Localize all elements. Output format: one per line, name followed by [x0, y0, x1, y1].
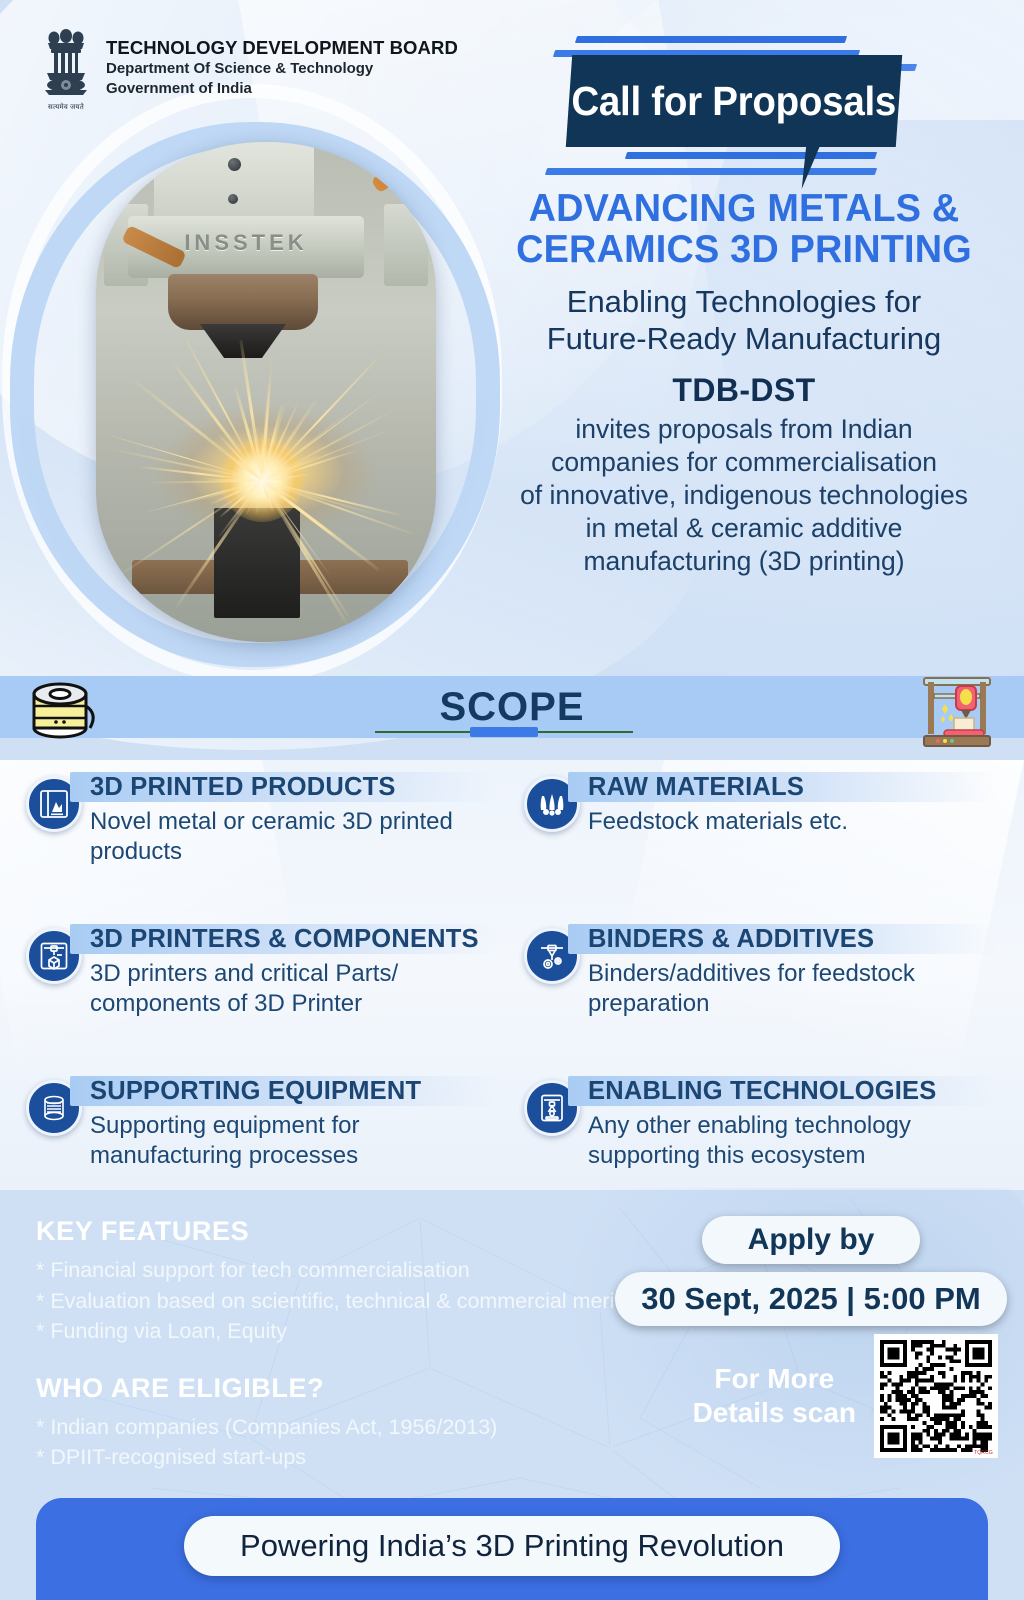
scope-underline [375, 727, 633, 737]
qr-label-line-2: Details scan [693, 1396, 856, 1430]
body-line-1: invites proposals from Indian [486, 413, 1002, 446]
scope-grid: 3D PRINTED PRODUCTS Novel metal or ceram… [0, 770, 1024, 1202]
scope-underline-center [470, 727, 538, 737]
scope-item-raw-materials[interactable]: RAW MATERIALS Feedstock materials etc. [512, 770, 1010, 898]
organisation-name: TECHNOLOGY DEVELOPMENT BOARD Department … [106, 26, 458, 98]
details-panel: KEY FEATURES * Financial support for tec… [0, 1188, 1024, 1533]
apply-deadline: 30 Sept, 2025 | 5:00 PM [615, 1272, 1007, 1326]
scope-item-enabling-technologies[interactable]: ENABLING TECHNOLOGIES Any other enabling… [512, 1074, 1010, 1202]
emblem-motto: सत्यमेव जयते [38, 103, 94, 112]
banner-speech-tail [802, 145, 835, 189]
scope-item-desc: Novel metal or ceramic 3D printed produc… [90, 807, 490, 867]
scope-section: 3D PRINTED PRODUCTS Novel metal or ceram… [0, 760, 1024, 1190]
body-line-4: in metal & ceramic additive [486, 512, 1002, 545]
eligibility-heading: WHO ARE ELIGIBLE? [36, 1373, 636, 1404]
hero-photo: INSSTEK [96, 142, 436, 642]
scope-item-supporting-equipment[interactable]: SUPPORTING EQUIPMENT Supporting equipmen… [14, 1074, 512, 1202]
call-for-proposals-banner: Call for Proposals [556, 28, 976, 188]
banner-bubble: Call for Proposals [566, 55, 902, 147]
qr-code-icon[interactable]: TQRCG [874, 1334, 998, 1458]
poster-root: सत्यमेव जयते TECHNOLOGY DEVELOPMENT BOAR… [0, 0, 1024, 1600]
scope-underline-right [538, 731, 633, 733]
key-feature-item: * Funding via Loan, Equity [36, 1316, 636, 1347]
qr-label-line-1: For More [693, 1362, 856, 1396]
qr-label: For More Details scan [693, 1362, 856, 1429]
headline-column: ADVANCING METALS & CERAMICS 3D PRINTING … [486, 188, 1002, 578]
apply-by-block: Apply by 30 Sept, 2025 | 5:00 PM [626, 1216, 996, 1326]
scope-item-desc: Any other enabling technology supporting… [588, 1111, 988, 1171]
scope-item-title: RAW MATERIALS [588, 773, 804, 801]
qr-caption: TQRCG [974, 1450, 993, 1456]
scope-item-desc: 3D printers and critical Parts/ componen… [90, 959, 490, 1019]
banner-label: Call for Proposals [572, 78, 897, 125]
key-feature-item: * Financial support for tech commerciali… [36, 1255, 636, 1286]
banner-accent-line-4 [625, 152, 877, 159]
scope-item-desc: Binders/additives for feedstock preparat… [588, 959, 988, 1019]
body-line-2: companies for commercialisation [486, 446, 1002, 479]
eligibility-block: WHO ARE ELIGIBLE? * Indian companies (Co… [36, 1373, 636, 1473]
org-line-1: TECHNOLOGY DEVELOPMENT BOARD [106, 36, 458, 59]
body-line-5: manufacturing (3D printing) [486, 545, 1002, 578]
scope-item-binders-additives[interactable]: BINDERS & ADDITIVES Binders/additives fo… [512, 922, 1010, 1050]
machine-bolt-1 [228, 158, 241, 171]
machine-bolt-2 [228, 194, 238, 204]
scope-item-title: BINDERS & ADDITIVES [588, 925, 874, 953]
banner-accent-line-1 [575, 36, 847, 43]
hero-photo-block: INSSTEK [36, 128, 476, 658]
scope-item-3d-printed-products[interactable]: 3D PRINTED PRODUCTS Novel metal or ceram… [14, 770, 512, 898]
org-line-2: Department Of Science & Technology [106, 59, 458, 79]
subtitle-line-1: Enabling Technologies for [486, 283, 1002, 321]
scope-item-title: ENABLING TECHNOLOGIES [588, 1077, 936, 1105]
headline-line-2: CERAMICS 3D PRINTING [494, 229, 995, 270]
organisation-logo-block: सत्यमेव जयते TECHNOLOGY DEVELOPMENT BOAR… [38, 26, 458, 112]
3d-printer-icon [914, 664, 1000, 750]
key-features-block: KEY FEATURES * Financial support for tec… [36, 1216, 636, 1473]
filament-spool-icon [26, 672, 100, 744]
footer-banner: Powering India’s 3D Printing Revolution [36, 1498, 988, 1600]
scope-item-title: 3D PRINTERS & COMPONENTS [90, 925, 479, 953]
scope-item-3d-printers-components[interactable]: 3D PRINTERS & COMPONENTS 3D printers and… [14, 922, 512, 1050]
scope-item-desc: Supporting equipment for manufacturing p… [90, 1111, 490, 1171]
body-line-3: of innovative, indigenous technologies [486, 479, 1002, 512]
key-features-heading: KEY FEATURES [36, 1216, 636, 1247]
organisation-acronym: TDB-DST [486, 372, 1002, 409]
machine-cylinder [168, 274, 318, 330]
machine-side-right [384, 204, 428, 286]
key-features-list: * Financial support for tech commerciali… [36, 1255, 636, 1347]
apply-by-label: Apply by [702, 1216, 921, 1264]
key-feature-item: * Evaluation based on scientific, techni… [36, 1286, 636, 1317]
footer-tagline: Powering India’s 3D Printing Revolution [184, 1516, 840, 1576]
headline-line-1: ADVANCING METALS & [494, 188, 995, 229]
scope-item-title: SUPPORTING EQUIPMENT [90, 1077, 421, 1105]
scope-item-title: 3D PRINTED PRODUCTS [90, 773, 396, 801]
eligibility-list: * Indian companies (Companies Act, 1956/… [36, 1412, 636, 1473]
org-line-3: Government of India [106, 79, 458, 99]
scope-item-desc: Feedstock materials etc. [588, 807, 988, 837]
eligibility-item: * Indian companies (Companies Act, 1956/… [36, 1412, 636, 1443]
qr-block: For More Details scan TQRCG [598, 1334, 998, 1458]
india-state-emblem-icon: सत्यमेव जयते [38, 26, 94, 112]
subtitle-line-2: Future-Ready Manufacturing [486, 320, 1002, 358]
eligibility-item: * DPIIT-recognised start-ups [36, 1442, 636, 1473]
scope-underline-left [375, 731, 470, 733]
